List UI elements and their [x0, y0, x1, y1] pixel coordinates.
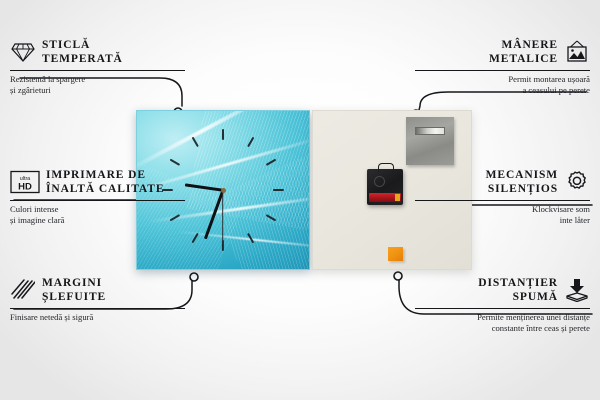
battery-positive-tip [395, 194, 400, 201]
product-infographic: STICLĂ TEMPERATĂ Rezistentă la spargere … [0, 0, 600, 400]
mechanism-hanger-loop [378, 163, 394, 172]
clock-tick [247, 137, 254, 147]
feature-mechanism: MECANISM SILENȚIOS Klockvisare som inte … [415, 168, 590, 226]
polished-edges-icon [10, 277, 36, 303]
feature-glass: STICLĂ TEMPERATĂ Rezistentă la spargere … [10, 38, 185, 96]
feature-spacer-head: DISTANȚIER SPUMĂ [415, 276, 590, 305]
feature-glass-subtitle: Rezistentă la spargere și zgârieturi [10, 74, 185, 97]
clock-tick [266, 214, 276, 221]
feature-edges: MARGINI ȘLEFUITE Finisare netedă și sigu… [10, 276, 185, 323]
clock-tick [266, 159, 276, 166]
connector-dot-edges [190, 273, 198, 281]
feature-edges-title: MARGINI ȘLEFUITE [42, 276, 106, 305]
feature-edges-head: MARGINI ȘLEFUITE [10, 276, 185, 305]
feature-print-rule [10, 200, 185, 201]
metal-hanger-plate [406, 117, 454, 165]
feature-spacer-rule [415, 308, 590, 309]
clock-tick [170, 159, 180, 166]
feature-mechanism-title: MECANISM SILENȚIOS [486, 168, 558, 197]
clock-mechanism [367, 169, 403, 205]
clock-tick [222, 129, 224, 140]
clock-hour-hand [185, 183, 223, 192]
clock-tick [247, 233, 254, 243]
feature-glass-rule [10, 70, 185, 71]
feature-handles-head: MÂNERE METALICE [415, 38, 590, 67]
feature-mechanism-rule [415, 200, 590, 201]
ultra-hd-icon: ultra HD [10, 169, 40, 195]
feature-edges-rule [10, 308, 185, 309]
clock-tick [192, 137, 199, 147]
gear-icon [564, 169, 590, 195]
feature-handles: MÂNERE METALICE Permit montarea ușoară a… [415, 38, 590, 96]
feature-spacer: DISTANȚIER SPUMĂ Permite menținerea unei… [415, 276, 590, 334]
diamond-icon [10, 39, 36, 65]
connector-dot-spacer [394, 272, 402, 280]
feature-spacer-subtitle: Permite menținerea unei distanțe constan… [415, 312, 590, 335]
feature-edges-subtitle: Finisare netedă și sigură [10, 312, 185, 323]
feature-glass-head: STICLĂ TEMPERATĂ [10, 38, 185, 67]
feature-mechanism-subtitle: Klockvisare som inte låter [415, 204, 590, 227]
hanger-slot [415, 127, 445, 135]
foam-spacer-pad [388, 247, 403, 261]
mechanism-shaft [374, 176, 385, 187]
feature-print-subtitle: Culori intense și imagine clară [10, 204, 185, 227]
svg-text:HD: HD [18, 182, 32, 193]
foam-spacer-icon [564, 277, 590, 303]
feature-spacer-title: DISTANȚIER SPUMĂ [478, 276, 558, 305]
clock-tick [273, 189, 284, 191]
clock-hand-cap [221, 188, 226, 193]
feature-handles-rule [415, 70, 590, 71]
feature-mechanism-head: MECANISM SILENȚIOS [415, 168, 590, 197]
clock-minute-hand [204, 190, 224, 240]
feature-handles-title: MÂNERE METALICE [489, 38, 558, 67]
battery [369, 193, 401, 202]
feature-handles-subtitle: Permit montarea ușoară a ceasului pe per… [415, 74, 590, 97]
clock-tick [192, 233, 199, 243]
clock-second-hand [222, 190, 223, 244]
feature-print: ultra HD IMPRIMARE DE ÎNALTĂ CALITATE Cu… [10, 168, 185, 226]
picture-hanger-icon [564, 39, 590, 65]
feature-print-title: IMPRIMARE DE ÎNALTĂ CALITATE [46, 168, 164, 197]
feature-print-head: ultra HD IMPRIMARE DE ÎNALTĂ CALITATE [10, 168, 185, 197]
feature-glass-title: STICLĂ TEMPERATĂ [42, 38, 123, 67]
